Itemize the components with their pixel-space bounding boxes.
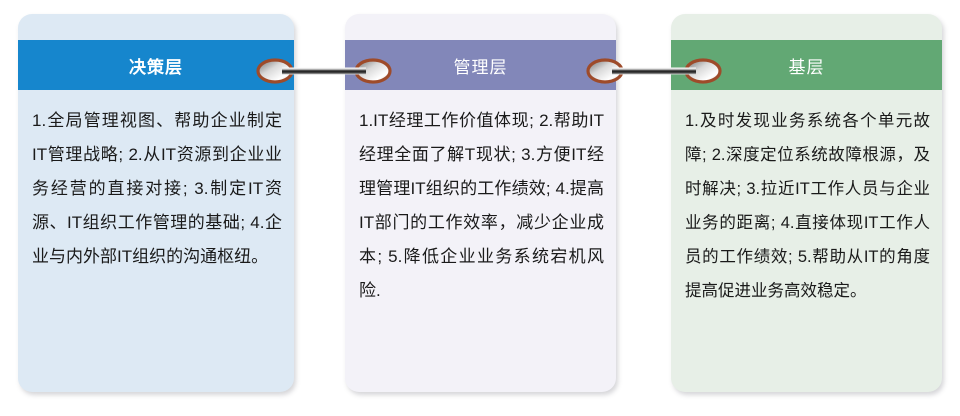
card-decision-title: 决策层 bbox=[129, 53, 183, 78]
chain-link-icon-2 bbox=[582, 57, 726, 85]
card-base-title: 基层 bbox=[789, 53, 825, 78]
chain-link-icon-1 bbox=[252, 57, 396, 85]
card-management-title: 管理层 bbox=[454, 53, 508, 78]
card-management-body: 1.IT经理工作价值体现; 2.帮助IT经理全面了解T现状; 3.方便IT经理管… bbox=[345, 90, 616, 392]
card-base-body: 1.及时发现业务系统各个单元故障; 2.深度定位系统故障根源，及时解决; 3.拉… bbox=[671, 90, 942, 392]
card-management-text: 1.IT经理工作价值体现; 2.帮助IT经理全面了解T现状; 3.方便IT经理管… bbox=[359, 104, 604, 308]
card-decision-text: 1.全局管理视图、帮助企业制定IT管理战略; 2.从IT资源到企业业务经营的直接… bbox=[32, 104, 282, 274]
card-decision-body: 1.全局管理视图、帮助企业制定IT管理战略; 2.从IT资源到企业业务经营的直接… bbox=[18, 90, 294, 392]
diagram-canvas: 决策层 1.全局管理视图、帮助企业制定IT管理战略; 2.从IT资源到企业业务经… bbox=[0, 0, 960, 416]
card-base-text: 1.及时发现业务系统各个单元故障; 2.深度定位系统故障根源，及时解决; 3.拉… bbox=[685, 104, 930, 308]
